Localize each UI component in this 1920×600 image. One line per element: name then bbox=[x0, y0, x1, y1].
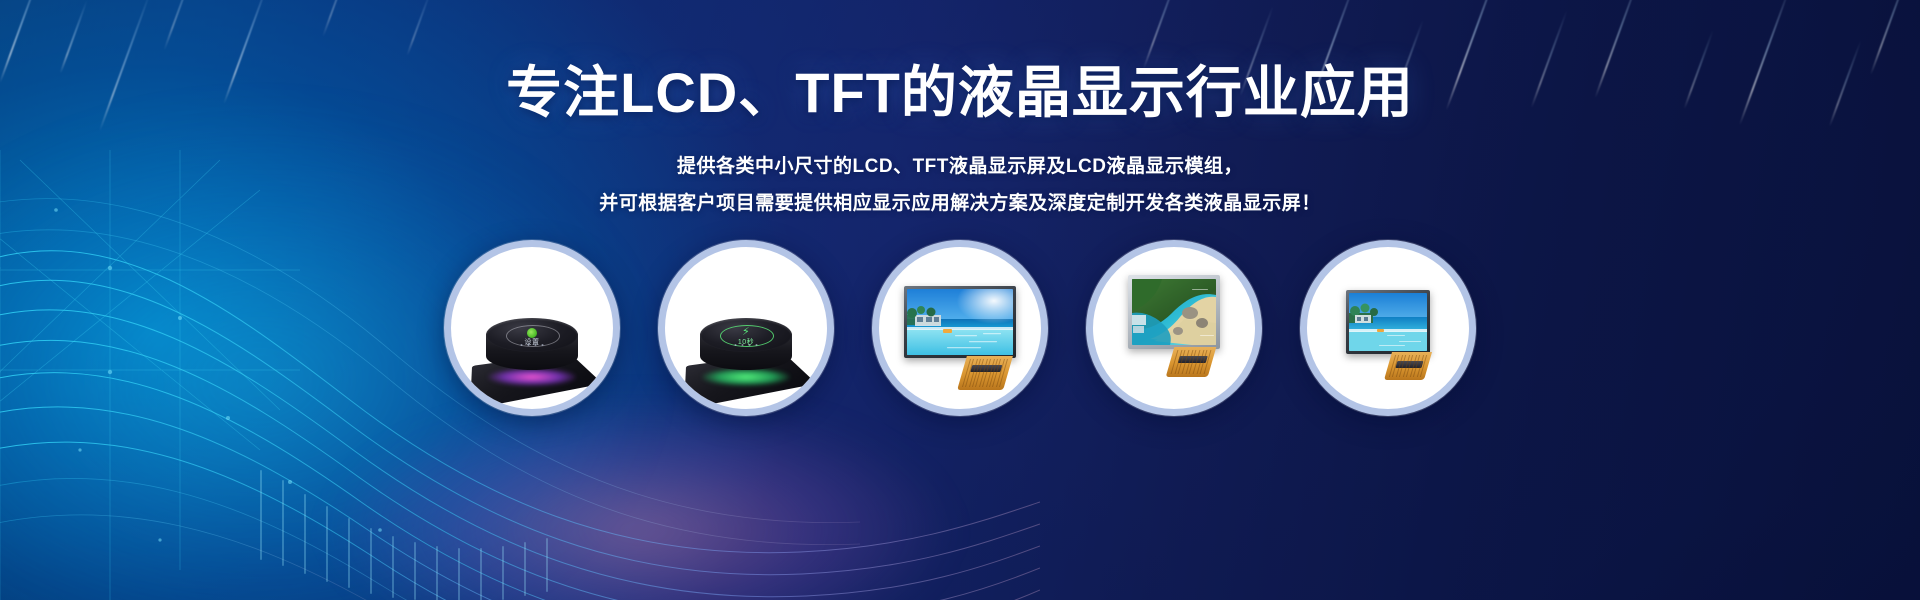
streak bbox=[322, 0, 354, 37]
lcd-screen-tropical-beach bbox=[1349, 293, 1427, 351]
hero-banner: 专注LCD、TFT的液晶显示行业应用 提供各类中小尺寸的LCD、TFT液晶显示屏… bbox=[0, 0, 1920, 600]
lcd-screen-tropical-pool bbox=[907, 289, 1013, 355]
fpc-traces bbox=[1389, 355, 1427, 377]
product-image-smart-speaker-green: ⚡ 10秒 bbox=[665, 247, 827, 409]
fpc-traces bbox=[1171, 350, 1212, 374]
tft-screen-coastal-aerial bbox=[1132, 279, 1216, 345]
product-circle-wide-lcd-small[interactable] bbox=[1300, 240, 1476, 416]
lcd-bezel bbox=[904, 286, 1016, 358]
lcd-module-small bbox=[1346, 290, 1430, 354]
product-circle-smart-speaker-green[interactable]: ⚡ 10秒 bbox=[658, 240, 834, 416]
streak bbox=[406, 0, 432, 56]
product-image-wide-lcd-small bbox=[1307, 247, 1469, 409]
fpc-ribbon-cable bbox=[1384, 352, 1432, 380]
product-circle-row: 设置 ⚡ 10秒 bbox=[0, 240, 1920, 416]
product-image-smart-speaker-purple: 设置 bbox=[451, 247, 613, 409]
smart-speaker-device: ⚡ 10秒 bbox=[700, 318, 792, 380]
page-title: 专注LCD、TFT的液晶显示行业应用 bbox=[0, 62, 1920, 124]
lcd-bezel bbox=[1346, 290, 1430, 354]
fpc-traces bbox=[962, 359, 1008, 387]
fpc-ribbon-cable bbox=[957, 356, 1013, 390]
product-circle-tft-panel[interactable] bbox=[1086, 240, 1262, 416]
pink-glow bbox=[330, 400, 950, 600]
tft-bezel bbox=[1128, 275, 1220, 349]
streak bbox=[1142, 0, 1182, 70]
product-image-tft-panel bbox=[1093, 247, 1255, 409]
product-image-wide-lcd-large bbox=[879, 247, 1041, 409]
subtitle-line-2: 并可根据客户项目需要提供相应显示应用解决方案及深度定制开发各类液晶显示屏！ bbox=[0, 185, 1920, 222]
subtitle-line-1: 提供各类中小尺寸的LCD、TFT液晶显示屏及LCD液晶显示模组， bbox=[0, 148, 1920, 185]
fpc-ribbon-cable bbox=[1166, 347, 1217, 377]
indicator-dots bbox=[521, 344, 544, 346]
streak bbox=[163, 0, 198, 51]
indicator-dots bbox=[735, 344, 758, 346]
smart-speaker-device: 设置 bbox=[486, 318, 578, 380]
tft-module-43 bbox=[1128, 275, 1220, 349]
product-circle-wide-lcd-large[interactable] bbox=[872, 240, 1048, 416]
lcd-module-large bbox=[904, 286, 1016, 358]
product-circle-smart-speaker-purple[interactable]: 设置 bbox=[444, 240, 620, 416]
hero-text-block: 专注LCD、TFT的液晶显示行业应用 提供各类中小尺寸的LCD、TFT液晶显示屏… bbox=[0, 62, 1920, 222]
